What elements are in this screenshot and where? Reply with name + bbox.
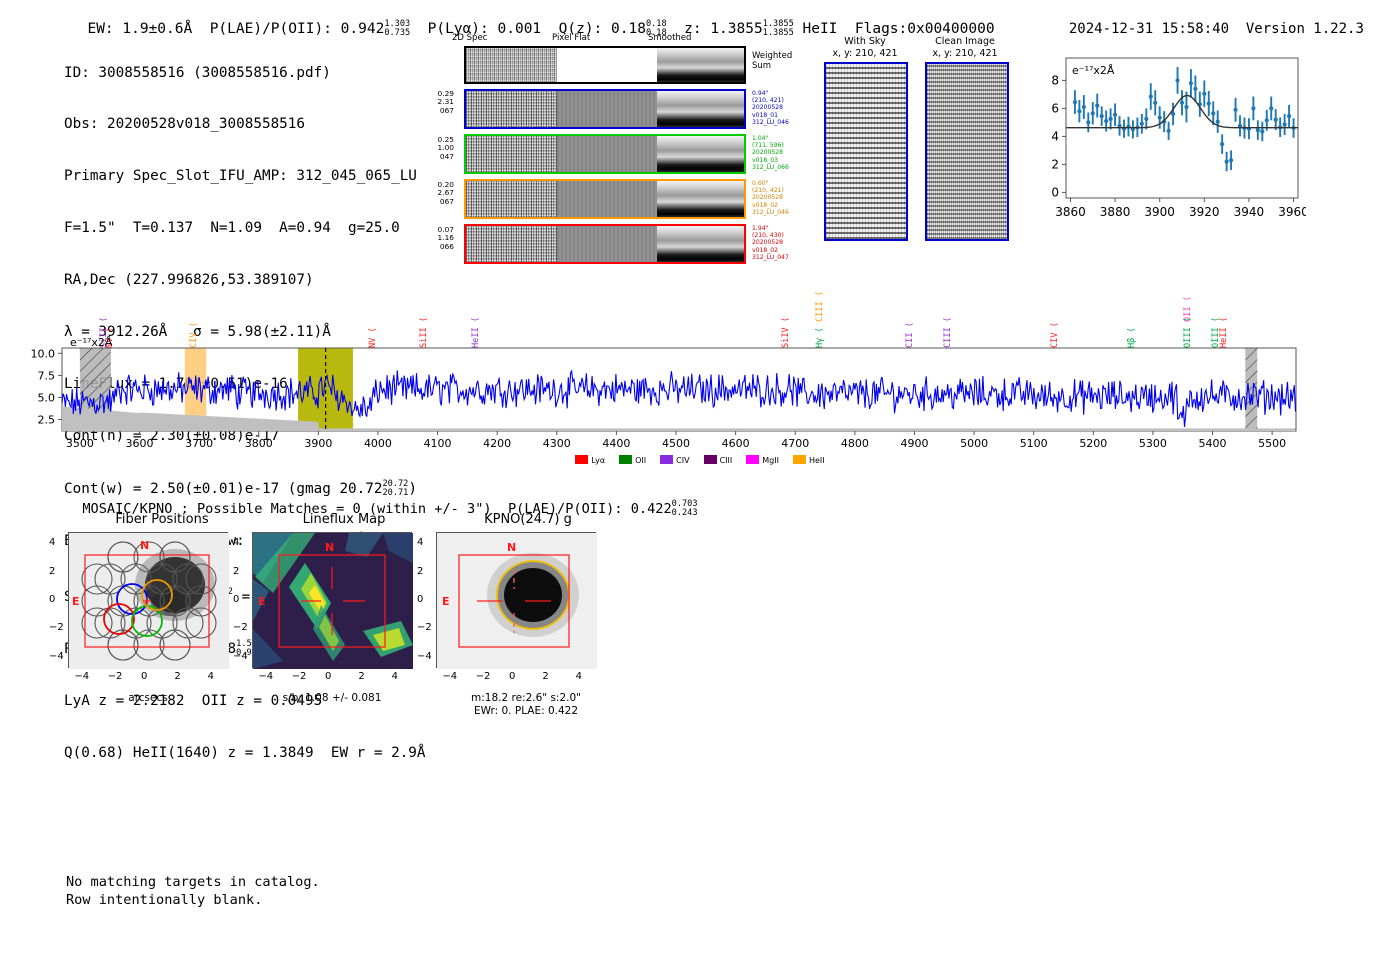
legend-item-heii: HeII: [793, 455, 825, 465]
kpno-x-tick: −2: [476, 671, 491, 682]
header-datetime: 2024-12-31 15:58:40: [1069, 21, 1229, 37]
fiber-positions-x-tick: 2: [174, 671, 180, 682]
svg-text:5.0: 5.0: [38, 391, 56, 404]
lineflux-map-image: N E: [252, 532, 412, 668]
lineflux-map-y-tick: 0: [233, 594, 239, 605]
fiber-positions-title: Fiber Positions: [66, 512, 258, 527]
twod-weighted-sum-label: Weighted Sum: [752, 51, 792, 71]
header-flags: Flags:0x00400000: [855, 21, 995, 37]
svg-text:4900: 4900: [900, 437, 928, 450]
spectrum-x-ticks: 3500360037003800390040004100420043004400…: [66, 431, 1286, 450]
svg-text:5000: 5000: [960, 437, 988, 450]
twod-fiber-row-3: [464, 224, 746, 264]
legend-label-mgii: MgII: [762, 456, 779, 465]
svg-text:3800: 3800: [245, 437, 273, 450]
legend-item-ciii: CIII: [704, 455, 733, 465]
lineflux-map-x-tick: −4: [258, 671, 273, 682]
svg-text:0: 0: [1051, 185, 1059, 199]
full-spectrum-svg: 2.55.07.510.0 35003600370038003900400041…: [0, 270, 1400, 470]
cutout-1-title: Clean Imagex, y: 210, 421: [917, 36, 1013, 59]
zoom-plot-x-ticks: 386038803900392039403960: [1055, 198, 1306, 219]
svg-text:6: 6: [1051, 101, 1059, 115]
mosaic-plae-value: 0.422: [631, 501, 672, 517]
twod-col-title-pixelflat: Pixel Flat: [552, 33, 590, 43]
legend-item-mgii: MgII: [746, 455, 779, 465]
lineflux-map-y-tick: 4: [233, 537, 239, 548]
line-fit-zoom-plot: 02468 386038803900392039403960 e⁻¹⁷x2Å: [1034, 52, 1306, 242]
lineflux-map-x-tick: 4: [392, 671, 398, 682]
kpno-image: N E: [436, 532, 596, 668]
svg-text:7.5: 7.5: [38, 369, 56, 382]
twod-col-title-2dspec: 2D Spec: [452, 33, 487, 43]
header-z-errors: 1.38551.3855: [763, 20, 794, 38]
kpno-x-tick: 4: [576, 671, 582, 682]
legend-item-oii: OII: [619, 455, 646, 465]
lineflux-map-svg: N E: [253, 533, 413, 669]
svg-text:3860: 3860: [1055, 205, 1086, 219]
twod-fiber-row-0: [464, 89, 746, 129]
cutout-0-title: With Skyx, y: 210, 421: [822, 36, 908, 59]
svg-text:3920: 3920: [1189, 205, 1220, 219]
svg-text:5500: 5500: [1258, 437, 1286, 450]
twod-row-1-right-labels: 1.04"(711, 596)20200528v018_03312_LU_066: [752, 135, 812, 171]
kpno-title: KPNO(24.7) g: [432, 512, 624, 527]
mosaic-plae-errors: 0.7030.243: [672, 500, 698, 518]
kpno-y-tick: 4: [417, 537, 423, 548]
twod-row-3-right-labels: 1.94"(210, 430)20200528v018_02312_LU_047: [752, 225, 812, 261]
kpno-y-tick: −4: [417, 651, 432, 662]
compass-e-label: E: [258, 595, 266, 608]
full-spectrum-plot: SiII (NV (CIV (NV (SiII (HeII (SiIV (CII…: [0, 270, 1400, 470]
svg-text:8: 8: [1051, 73, 1059, 87]
footer-line-1: No matching targets in catalog.: [66, 874, 320, 892]
header-z-line: HeII: [802, 21, 837, 37]
svg-text:3960: 3960: [1278, 205, 1306, 219]
svg-text:3600: 3600: [125, 437, 153, 450]
legend-item-lyα: Lyα: [575, 455, 605, 465]
info-q068: Q(0.68) HeII(1640) z = 1.3849 EW r = 2.9…: [64, 745, 426, 762]
svg-text:3500: 3500: [66, 437, 94, 450]
svg-text:4000: 4000: [364, 437, 392, 450]
svg-text:4700: 4700: [781, 437, 809, 450]
legend-label-oii: OII: [635, 456, 646, 465]
legend-swatch-ciii: [704, 455, 717, 464]
line-fit-zoom-svg: 02468 386038803900392039403960 e⁻¹⁷x2Å: [1034, 52, 1306, 242]
twod-row-2-left-labels: 0.202.67067: [428, 181, 454, 206]
lineflux-map-x-tick: 2: [358, 671, 364, 682]
legend-label-civ: CIV: [676, 456, 689, 465]
svg-text:2.5: 2.5: [38, 414, 56, 427]
legend-swatch-civ: [660, 455, 673, 464]
fiber-positions-y-tick: 0: [49, 594, 55, 605]
legend-label-lyα: Lyα: [591, 456, 605, 465]
legend-label-ciii: CIII: [720, 456, 733, 465]
zoom-plot-y-ticks: 02468: [1051, 73, 1066, 199]
compass-e-label: E: [442, 595, 450, 608]
spectrum-annotation: e⁻¹⁷x2Å: [70, 336, 113, 349]
twod-row-1-left-labels: 0.251.00047: [428, 136, 454, 161]
kpno-xlabel: m:18.2 re:2.6" s:2.0": [436, 692, 616, 704]
svg-text:5200: 5200: [1079, 437, 1107, 450]
zoom-plot-annotation: e⁻¹⁷x2Å: [1072, 64, 1115, 77]
twod-spec-panel: 2D Spec Pixel Flat Smoothed Weighted Sum…: [430, 33, 760, 253]
fiber-positions-x-tick: 4: [208, 671, 214, 682]
svg-text:3900: 3900: [1144, 205, 1175, 219]
svg-text:4100: 4100: [424, 437, 452, 450]
lineflux-map-y-tick: 2: [233, 566, 239, 577]
fiber-positions-x-tick: 0: [141, 671, 147, 682]
info-seeing: F=1.5" T=0.137 N=1.09 A=0.94 g=25.0: [64, 220, 426, 237]
lineflux-map-xlabel: s/b: 1.08 +/- 0.081: [252, 692, 412, 704]
spectrum-y-ticks: 2.55.07.510.0: [31, 347, 63, 426]
lineflux-map-x-tick: 0: [325, 671, 331, 682]
fiber-positions-x-tick: −2: [108, 671, 123, 682]
compass-n-label: N: [325, 541, 334, 554]
kpno-svg: N E: [437, 533, 597, 669]
legend-swatch-heii: [793, 455, 806, 464]
spectrum-error-band: [62, 406, 1296, 431]
footer-note: No matching targets in catalog. Row inte…: [66, 874, 320, 909]
twod-col-title-smoothed: Smoothed: [648, 33, 691, 43]
fiber-positions-image: N E: [68, 532, 228, 668]
fiber-positions-y-tick: −4: [49, 651, 64, 662]
svg-text:4200: 4200: [483, 437, 511, 450]
svg-text:5300: 5300: [1139, 437, 1167, 450]
spectrum-legend: LyαOIICIVCIIIMgIIHeII: [0, 455, 1400, 465]
fiber-positions-x-tick: −4: [74, 671, 89, 682]
lineflux-map-y-tick: −2: [233, 622, 248, 633]
legend-swatch-lyα: [575, 455, 588, 464]
kpno-x-tick: 2: [542, 671, 548, 682]
svg-text:3900: 3900: [304, 437, 332, 450]
lineflux-map-x-tick: −2: [292, 671, 307, 682]
svg-text:4800: 4800: [841, 437, 869, 450]
compass-n-label: N: [140, 539, 149, 552]
kpno-xlabel2: EWr: 0. PLAE: 0.422: [436, 705, 616, 717]
header-datetime-version: 2024-12-31 15:58:40 Version 1.22.3: [1052, 5, 1364, 37]
kpno-y-tick: −2: [417, 622, 432, 633]
fiber-positions-y-tick: 4: [49, 537, 55, 548]
svg-text:5100: 5100: [1020, 437, 1048, 450]
legend-swatch-oii: [619, 455, 632, 464]
lineflux-map-y-tick: −4: [233, 651, 248, 662]
svg-text:4400: 4400: [602, 437, 630, 450]
info-obs: Obs: 20200528v018_3008558516: [64, 116, 426, 133]
with-sky-cutout-image: [824, 62, 908, 241]
legend-item-civ: CIV: [660, 455, 689, 465]
svg-text:5400: 5400: [1199, 437, 1227, 450]
info-id: ID: 3008558516 (3008558516.pdf): [64, 65, 426, 82]
svg-text:3940: 3940: [1234, 205, 1265, 219]
svg-text:4500: 4500: [662, 437, 690, 450]
fiber-positions-svg: N E: [69, 533, 229, 669]
twod-fiber-row-1: [464, 134, 746, 174]
compass-n-label: N: [507, 541, 516, 554]
kpno-x-tick: 0: [509, 671, 515, 682]
compass-e-label: E: [72, 595, 80, 608]
twod-fiber-row-2: [464, 179, 746, 219]
svg-text:2: 2: [1051, 157, 1059, 171]
info-primary-spec: Primary Spec_Slot_IFU_AMP: 312_045_065_L…: [64, 168, 426, 185]
twod-row-2-right-labels: 0.60"(210, 421)20200528v018_02312_LU_046: [752, 180, 812, 216]
twod-weighted-sum-strip: [464, 46, 746, 84]
footer-line-2: Row intentionally blank.: [66, 892, 320, 910]
svg-text:3880: 3880: [1100, 205, 1131, 219]
svg-text:4300: 4300: [543, 437, 571, 450]
header-version: Version 1.22.3: [1246, 21, 1364, 37]
svg-text:10.0: 10.0: [31, 347, 56, 360]
fiber-positions-y-tick: −2: [49, 622, 64, 633]
twod-row-0-right-labels: 0.94"(210, 421)20200528v018_01312_LU_046: [752, 90, 812, 126]
svg-text:3700: 3700: [185, 437, 213, 450]
legend-label-heii: HeII: [809, 456, 825, 465]
twod-row-3-left-labels: 0.071.16066: [428, 226, 454, 251]
kpno-y-tick: 2: [417, 566, 423, 577]
legend-swatch-mgii: [746, 455, 759, 464]
lineflux-map-title: Lineflux Map: [248, 512, 440, 527]
clean-image-cutout-image: [925, 62, 1009, 241]
fiber-positions-xlabel: arcsecs: [68, 692, 228, 704]
kpno-y-tick: 0: [417, 594, 423, 605]
svg-text:4600: 4600: [722, 437, 750, 450]
kpno-x-tick: −4: [442, 671, 457, 682]
svg-text:4: 4: [1051, 129, 1059, 143]
fiber-positions-y-tick: 2: [49, 566, 55, 577]
twod-row-0-left-labels: 0.292.31067: [428, 90, 454, 115]
